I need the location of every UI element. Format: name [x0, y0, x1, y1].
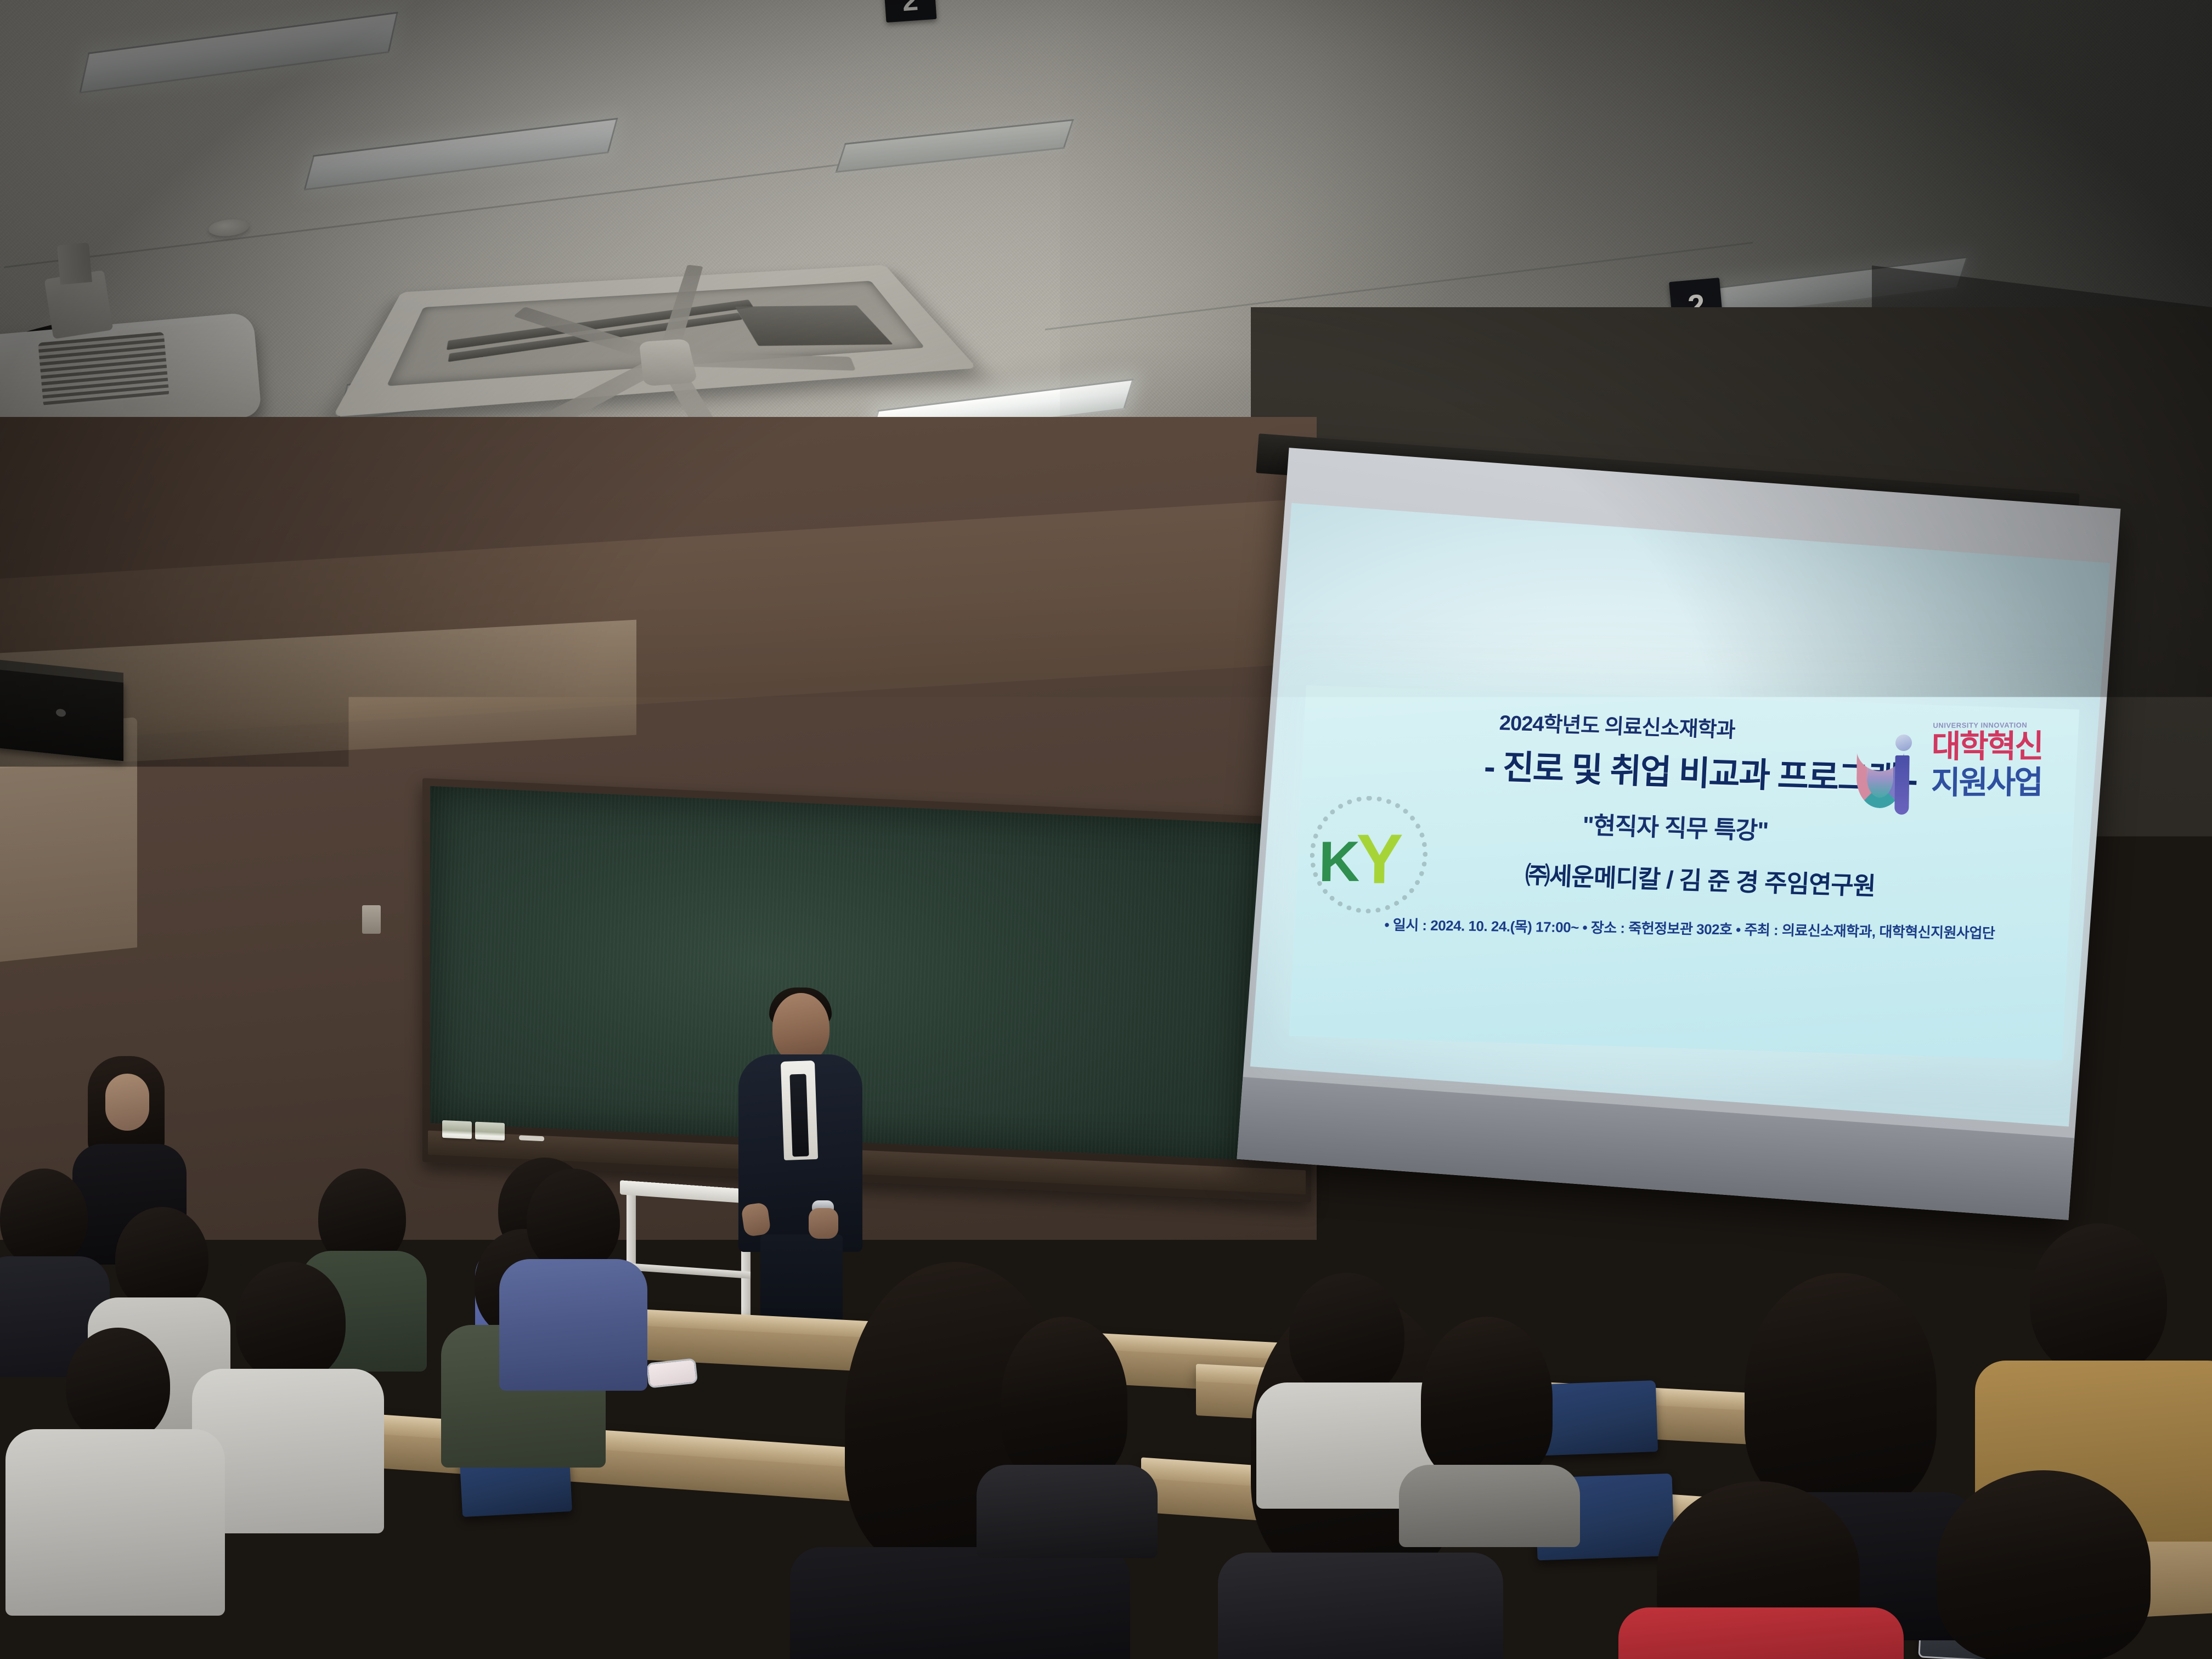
audience-member-foreground: [1909, 1470, 2172, 1659]
audience-torso: [1399, 1465, 1580, 1547]
audience-member: [988, 1317, 1141, 1547]
presentation-slide: K Y UNIVERSITY INNOVATION 대학혁신 지원사업 2024…: [1289, 685, 2080, 1060]
ceiling-fan-hub: [639, 338, 698, 386]
audience-bun-hair: [1745, 1273, 1937, 1509]
audience-denim-jacket: [499, 1259, 647, 1391]
audience-long-hair: [1421, 1317, 1553, 1481]
audience-member: [1404, 1317, 1569, 1536]
audience-long-hair: [1001, 1317, 1127, 1481]
audience-member: [208, 1262, 373, 1525]
presenter-head: [772, 993, 830, 1062]
staff-face: [105, 1074, 149, 1131]
innovation-logo-dot: [1895, 735, 1912, 751]
presenter-hand-right: [809, 1208, 838, 1239]
konyang-university-logo: K Y: [1305, 791, 1432, 918]
audience-head: [236, 1262, 346, 1383]
slide-footer-details: • 일시 : 2024. 10. 24.(목) 17:00~ • 장소 : 죽헌…: [1327, 913, 2052, 943]
smartphone[interactable]: [646, 1358, 698, 1388]
projector-mount-pole: [57, 242, 92, 285]
presenter-tie: [789, 1074, 809, 1157]
chalkboard-surface: [430, 786, 1304, 1163]
innovation-logo-line2: 지원사업: [1931, 767, 2042, 799]
ceiling-marker-2-top: 2: [884, 0, 937, 22]
innovation-logo-mark: [1853, 733, 1925, 816]
audience-torso: [1218, 1553, 1503, 1659]
audience-head: [0, 1169, 88, 1267]
projected-image-area: K Y UNIVERSITY INNOVATION 대학혁신 지원사업 2024…: [1250, 503, 2110, 1127]
audience-head: [609, 1404, 735, 1542]
slide-speaker-line: ㈜세운메디칼 / 김 준 경 주임연구원: [1346, 850, 2055, 907]
logo-letter-y: Y: [1356, 825, 1403, 895]
wall-speaker: [0, 668, 123, 761]
university-innovation-support-logo: UNIVERSITY INNOVATION 대학혁신 지원사업: [1850, 714, 2066, 830]
ac-vane: [735, 306, 893, 346]
audience-member-foreground: [1635, 1481, 1887, 1659]
audience-member: [33, 1328, 198, 1613]
audience-hoodie: [5, 1429, 225, 1616]
speaker-indicator: [56, 708, 66, 717]
presenter-hand-left: [741, 1202, 771, 1237]
logo-letter-k: K: [1318, 833, 1361, 890]
chalkboard: [422, 778, 1311, 1203]
audience-member: [576, 1404, 774, 1659]
projection-screen: K Y UNIVERSITY INNOVATION 대학혁신 지원사업 2024…: [1237, 448, 2120, 1220]
projector-vent: [38, 332, 169, 408]
chalkboard-eraser[interactable]: [442, 1120, 472, 1139]
audience-torso: [565, 1522, 790, 1659]
wall-switch-plate[interactable]: [362, 905, 381, 934]
audience-torso: [977, 1465, 1158, 1558]
lecture-hall-photo: 2 2 1 K Y: [0, 0, 2212, 1659]
audience-head: [2030, 1223, 2167, 1377]
audience-head: [1289, 1273, 1404, 1399]
innovation-logo-line1: 대학혁신: [1932, 731, 2042, 763]
audience-torso: [790, 1547, 1130, 1659]
audience-head: [527, 1169, 620, 1273]
audience-member: [505, 1169, 636, 1377]
audience-head: [115, 1207, 208, 1311]
chalkboard-eraser[interactable]: [475, 1122, 505, 1141]
audience-head: [66, 1328, 170, 1443]
innovation-logo-j-shape: [1894, 755, 1910, 815]
audience-long-hair: [1937, 1470, 2151, 1659]
audience-red-top: [1618, 1607, 1904, 1659]
